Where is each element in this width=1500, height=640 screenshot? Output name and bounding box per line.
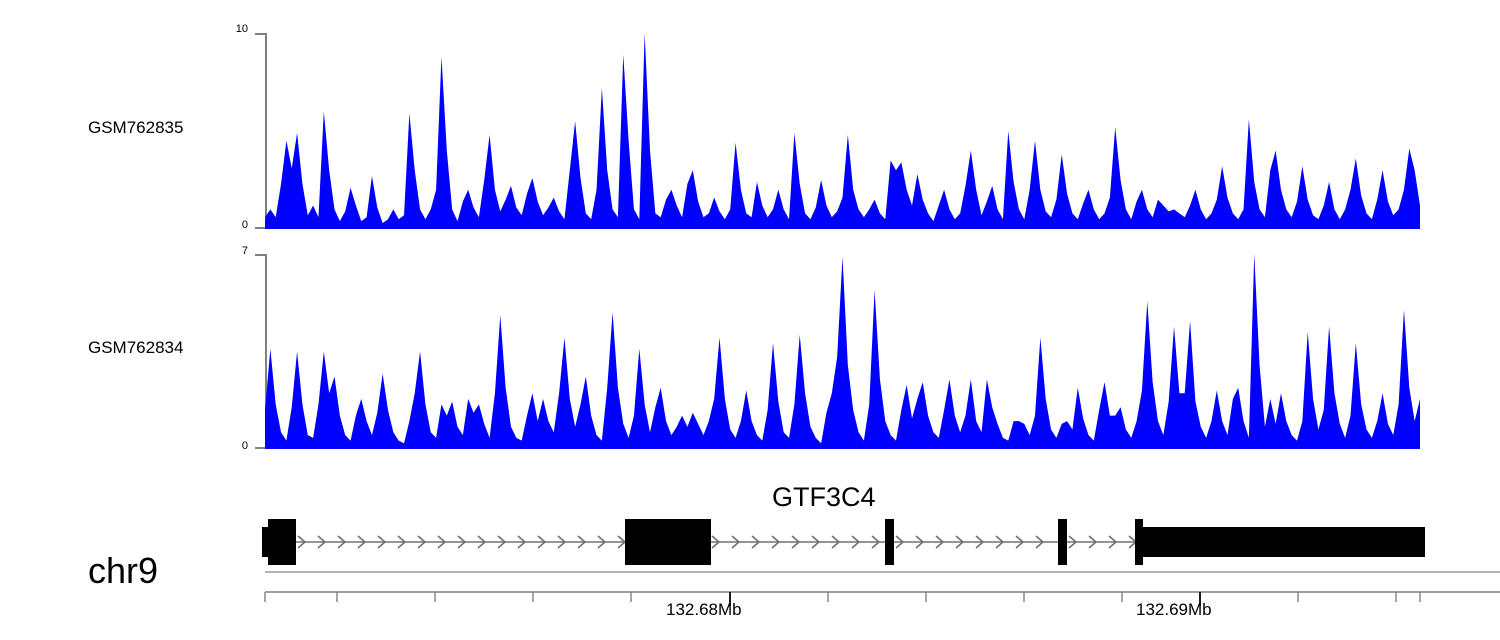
signal-track-gsm762834[interactable]: [265, 254, 1420, 449]
ruler-svg: [0, 572, 1500, 640]
y-axis-min-label-track-2: 0: [222, 440, 248, 452]
exon-block[interactable]: [1058, 519, 1067, 565]
exon-block[interactable]: [885, 519, 894, 565]
signal-track-gsm762835[interactable]: [265, 33, 1420, 229]
gene-model-svg: [0, 478, 1500, 578]
exon-block[interactable]: [268, 519, 296, 565]
signal-path-track-1: [265, 33, 1420, 229]
signal-path-track-2: [265, 254, 1420, 449]
genomic-coordinate-ruler[interactable]: [0, 572, 1500, 640]
gene-model-track[interactable]: [0, 478, 1500, 578]
ruler-tick-label-1: 132.69Mb: [1136, 600, 1212, 620]
exon-block[interactable]: [625, 519, 711, 565]
ruler-tick-label-0: 132.68Mb: [666, 600, 742, 620]
y-axis-min-label-track-1: 0: [222, 219, 248, 231]
signal-area-track-1: [265, 33, 1420, 229]
track-label-gsm762834: GSM762834: [88, 338, 183, 358]
track-label-gsm762835: GSM762835: [88, 118, 183, 138]
genome-browser-view: GSM762835 10 0 GSM762834 7 0 GTF3C4 chr9: [0, 0, 1500, 640]
signal-area-track-2: [265, 254, 1420, 449]
y-axis-max-label-track-2: 7: [222, 245, 248, 257]
y-axis-max-label-track-1: 10: [222, 23, 248, 35]
exon-block[interactable]: [1137, 527, 1425, 557]
